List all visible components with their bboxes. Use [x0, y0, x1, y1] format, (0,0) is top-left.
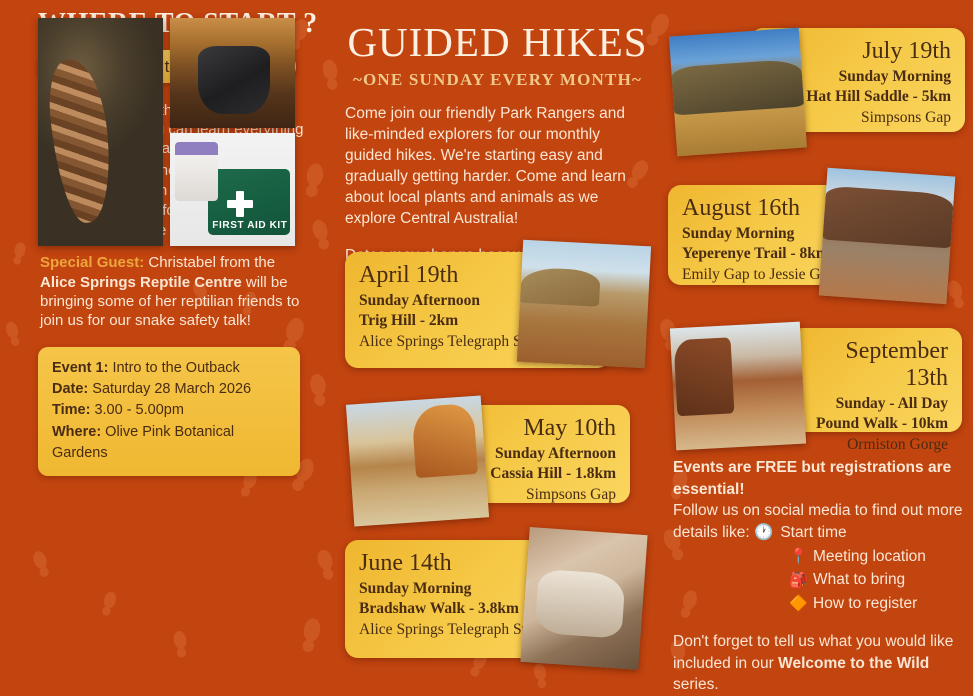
medical-cross-icon — [227, 191, 253, 217]
page-title: GUIDED HIKES — [335, 18, 660, 66]
special-guest-label: Special Guest: — [40, 254, 144, 271]
info-item-what-to-bring: 🎒 What to bring — [673, 569, 969, 591]
event-date: August 16th — [682, 195, 844, 222]
event-when: Sunday - All Day — [804, 394, 948, 414]
event-location: Ormiston Gorge — [804, 435, 948, 455]
intro-paragraph: Come join our friendly Park Rangers and … — [335, 104, 660, 230]
event-trail: Pound Walk - 10km — [804, 414, 948, 434]
special-guest-text-1: Christabel from the — [144, 254, 275, 271]
first-aid-kit-photo: FIRST AID KIT — [170, 133, 295, 246]
info-item-start-time: 🕐 Start time — [754, 522, 847, 544]
ormiston-gorge-photo — [670, 322, 806, 451]
hiking-boots-photo — [170, 18, 295, 128]
cassia-hill-photo — [346, 395, 489, 526]
left-column: FIRST AID KIT WHERE TO START ? Event 1: … — [0, 0, 335, 688]
event-card-september[interactable]: September 13th Sunday - All Day Pound Wa… — [790, 328, 962, 432]
event-when: Sunday Morning — [682, 224, 844, 244]
bradshaw-walk-photo — [520, 527, 647, 670]
event-date: September 13th — [804, 338, 948, 392]
info-item-how-to-register: 🔶 How to register — [673, 593, 969, 615]
trig-hill-photo — [517, 240, 651, 369]
info-item-meeting-location: 📍 Meeting location — [673, 546, 969, 568]
special-guest-org: Alice Springs Reptile Centre — [40, 274, 242, 291]
registration-info-block: Events are FREE but registrations are es… — [673, 457, 969, 696]
series-name: Welcome to the Wild — [778, 655, 929, 672]
detail-label: Event 1: — [52, 360, 108, 376]
detail-row: Where: Olive Pink Botanical Gardens — [52, 422, 288, 464]
detail-label: Where: — [52, 424, 101, 440]
clock-icon: 🕐 — [754, 522, 773, 544]
detail-value: Intro to the Outback — [108, 360, 239, 376]
detail-label: Time: — [52, 402, 90, 418]
info-item-label: How to register — [813, 593, 917, 615]
page-subtitle: ~ONE SUNDAY EVERY MONTH~ — [335, 70, 660, 90]
detail-row: Event 1: Intro to the Outback — [52, 358, 288, 379]
detail-row: Date: Saturday 28 March 2026 — [52, 379, 288, 400]
detail-label: Date: — [52, 381, 88, 397]
event-1-detail-box: Event 1: Intro to the Outback Date: Satu… — [38, 347, 300, 476]
info-headline: Events are FREE but registrations are es… — [673, 457, 969, 500]
yeperenye-trail-photo — [819, 168, 956, 305]
backpack-icon: 🎒 — [789, 570, 806, 591]
sunscreen-bottles — [175, 142, 218, 201]
location-pin-icon: 📍 — [789, 546, 806, 567]
info-follow-text: Follow us on social media to find out mo… — [673, 500, 969, 543]
info-item-list: 📍 Meeting location 🎒 What to bring 🔶 How… — [673, 546, 969, 615]
event-trail: Yeperenye Trail - 8km — [682, 244, 844, 264]
info-item-label: Meeting location — [813, 546, 926, 568]
info-item-label: What to bring — [813, 569, 905, 591]
detail-row: Time: 3.00 - 5.00pm — [52, 400, 288, 421]
snake-handling-photo — [38, 18, 163, 246]
closing-text-2: series. — [673, 676, 719, 693]
info-item-label: Start time — [780, 522, 846, 544]
closing-paragraph: Don't forget to tell us what you would l… — [673, 631, 969, 696]
detail-value: Saturday 28 March 2026 — [88, 381, 251, 397]
detail-value: 3.00 - 5.00pm — [90, 402, 184, 418]
diamond-icon: 🔶 — [789, 593, 806, 614]
hat-hill-saddle-photo — [669, 28, 807, 157]
special-guest-paragraph: Special Guest: Christabel from the Alice… — [40, 253, 308, 330]
first-aid-caption: FIRST AID KIT — [212, 220, 287, 231]
